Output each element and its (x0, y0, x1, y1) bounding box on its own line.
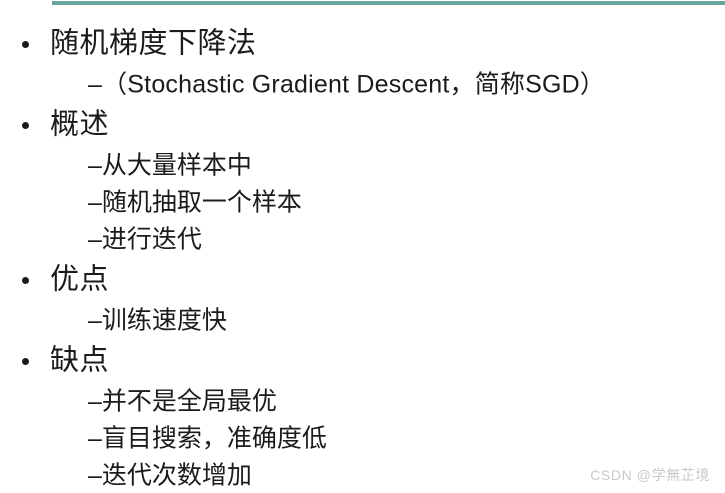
bullet-dot-icon (22, 277, 29, 284)
dash-icon: – (88, 426, 102, 451)
sub-bullet-text: （Stochastic Gradient Descent，简称SGD） (102, 70, 605, 98)
sub-bullet-text: 并不是全局最优 (102, 387, 277, 415)
sub-bullet-text: 盲目搜索，准确度低 (102, 424, 327, 452)
bullet-dot-icon (22, 122, 29, 129)
sub-bullet-text: 随机抽取一个样本 (102, 188, 302, 216)
bullet-label: 缺点 (50, 347, 109, 376)
sub-bullet-text: 从大量样本中 (102, 151, 252, 179)
sub-bullet-label: –并不是全局最优 (88, 389, 277, 414)
bullet-item-level2: –并不是全局最优 (0, 383, 725, 420)
dash-icon: – (88, 190, 102, 215)
slide-canvas: 随机梯度下降法 –（Stochastic Gradient Descent，简称… (0, 0, 725, 493)
sub-bullet-label: –（Stochastic Gradient Descent，简称SGD） (88, 72, 605, 97)
bullet-item-level2: –（Stochastic Gradient Descent，简称SGD） (0, 66, 725, 103)
bullet-item-level2: –从大量样本中 (0, 147, 725, 184)
bullet-item-level1: 优点 (0, 258, 725, 302)
dash-icon: – (88, 72, 102, 97)
dash-icon: – (88, 308, 102, 333)
dash-icon: – (88, 227, 102, 252)
sub-bullet-label: –训练速度快 (88, 308, 227, 333)
bullet-item-level1: 缺点 (0, 339, 725, 383)
sub-bullet-text: 训练速度快 (102, 306, 227, 334)
sub-bullet-label: –进行迭代 (88, 227, 202, 252)
bullet-item-level2: –进行迭代 (0, 221, 725, 258)
sub-bullet-label: –盲目搜索，准确度低 (88, 426, 327, 451)
bullet-list: 随机梯度下降法 –（Stochastic Gradient Descent，简称… (0, 22, 725, 493)
bullet-dot-icon (22, 41, 29, 48)
dash-icon: – (88, 389, 102, 414)
bullet-dot-icon (22, 358, 29, 365)
sub-bullet-label: –从大量样本中 (88, 153, 252, 178)
sub-bullet-label: –随机抽取一个样本 (88, 190, 302, 215)
bullet-label: 随机梯度下降法 (50, 30, 257, 59)
sub-bullet-text: 迭代次数增加 (102, 461, 252, 489)
bullet-item-level2: –训练速度快 (0, 302, 725, 339)
bullet-item-level2: –盲目搜索，准确度低 (0, 420, 725, 457)
dash-icon: – (88, 153, 102, 178)
sub-bullet-label: –迭代次数增加 (88, 463, 252, 488)
csdn-watermark: CSDN @学無芷境 (590, 465, 710, 485)
sub-bullet-text: 进行迭代 (102, 225, 202, 253)
bullet-label: 概述 (50, 111, 109, 140)
accent-rule (52, 1, 725, 5)
bullet-item-level1: 概述 (0, 103, 725, 147)
bullet-item-level1: 随机梯度下降法 (0, 22, 725, 66)
bullet-item-level2: –随机抽取一个样本 (0, 184, 725, 221)
bullet-label: 优点 (50, 266, 109, 295)
dash-icon: – (88, 463, 102, 488)
